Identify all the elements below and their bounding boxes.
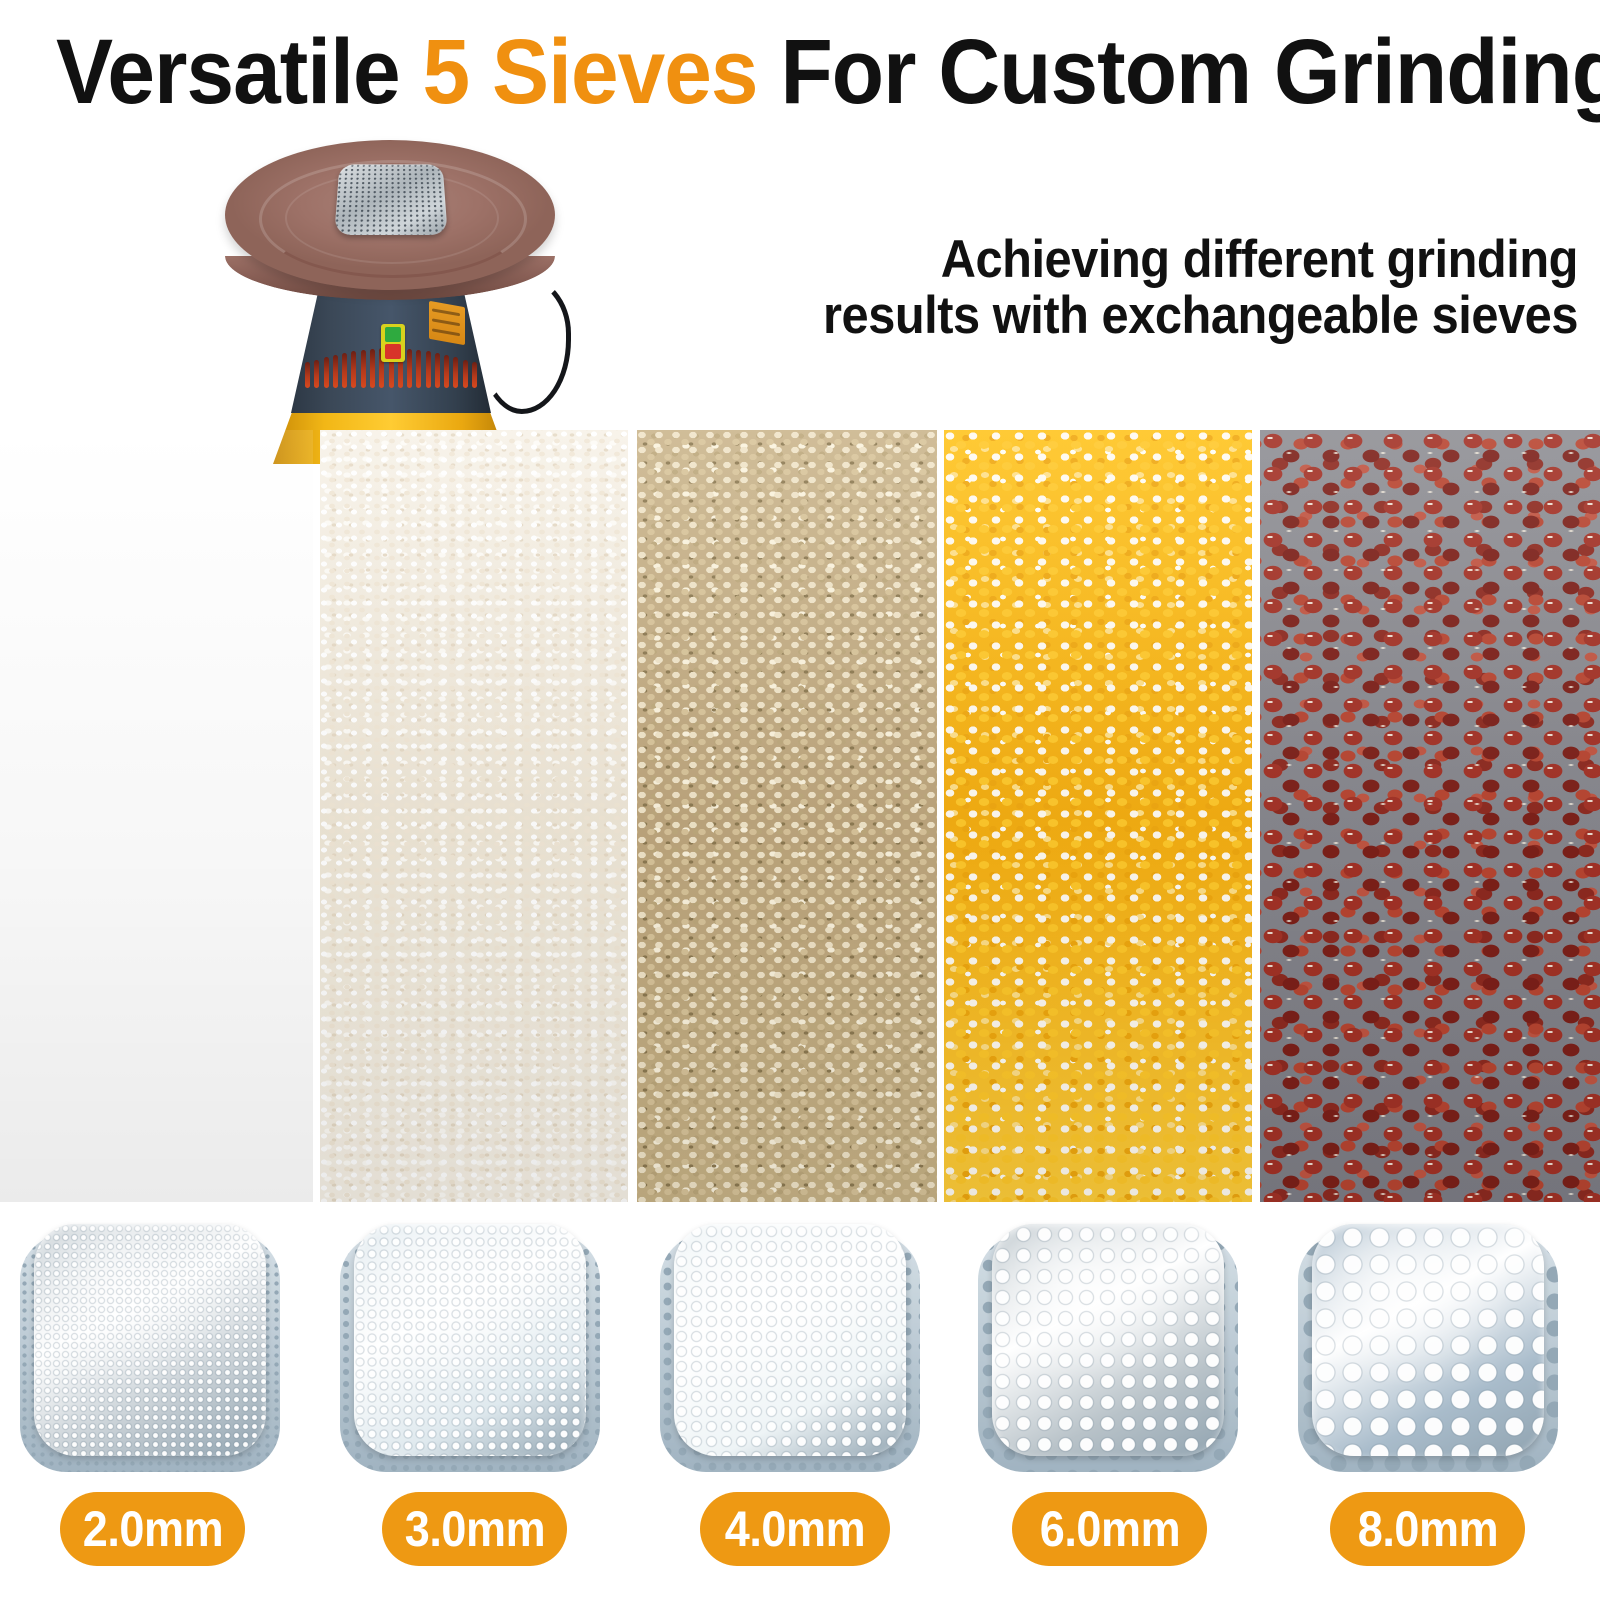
vent-slot — [370, 349, 375, 388]
sieve-plate-rim — [354, 1224, 586, 1456]
vent-slot — [407, 349, 412, 388]
power-switch[interactable] — [381, 324, 405, 362]
vent-slot — [435, 353, 440, 388]
grain-texture — [1260, 430, 1600, 1202]
sieve-size-badge-8-0mm[interactable]: 8.0mm — [1330, 1492, 1525, 1566]
sieve-plate-image — [992, 1224, 1224, 1456]
sieve-size-badge-4-0mm[interactable]: 4.0mm — [700, 1492, 890, 1566]
headline-part-2: For Custom Grinding — [758, 21, 1600, 123]
vent-slot — [351, 351, 356, 388]
sieve-8mm[interactable] — [1288, 1218, 1568, 1483]
sieve-plate-image — [34, 1224, 266, 1456]
grain-panel-buckwheat — [637, 430, 937, 1202]
sieve-size-badge-6-0mm[interactable]: 6.0mm — [1012, 1492, 1207, 1566]
sieve-3mm[interactable] — [330, 1218, 610, 1483]
grain-texture — [944, 430, 1252, 1202]
subtitle-line-2: results with exchangeable sieves — [750, 288, 1578, 344]
vent-slot — [472, 362, 477, 388]
sieve-6mm[interactable] — [968, 1218, 1248, 1483]
grain-texture — [0, 430, 313, 1202]
vent-slot — [444, 355, 449, 388]
headline-accent: 5 Sieves — [422, 21, 757, 123]
grain-mill-machine-image — [213, 128, 573, 433]
vent-slot — [333, 355, 338, 388]
grain-panel-corn-grits — [944, 430, 1252, 1202]
grain-panel-rice-grits — [320, 430, 628, 1202]
mounted-sieve-screen — [334, 164, 447, 235]
grain-panel-millet — [0, 430, 313, 1202]
grain-panel-red-beans — [1260, 430, 1600, 1202]
sieve-plate-rim — [34, 1224, 266, 1456]
page-title: Versatile 5 Sieves For Custom Grinding — [56, 22, 1544, 122]
badge-label: 4.0mm — [725, 1504, 865, 1554]
vent-slot — [305, 362, 310, 388]
badge-label: 3.0mm — [404, 1504, 544, 1554]
sieve-plate-image — [354, 1224, 586, 1456]
sieve-plate-rim — [674, 1224, 906, 1456]
vent-slot — [416, 350, 421, 388]
grain-texture — [320, 430, 628, 1202]
vent-slot — [463, 360, 468, 388]
sieve-size-badge-row: 2.0mm3.0mm4.0mm6.0mm8.0mm — [0, 1492, 1600, 1570]
sieve-plate-rim — [992, 1224, 1224, 1456]
vent-slot — [324, 357, 329, 388]
sieve-size-badge-2-0mm[interactable]: 2.0mm — [60, 1492, 245, 1566]
vent-slot — [453, 357, 458, 388]
subtitle: Achieving different grinding results wit… — [750, 232, 1578, 344]
vent-slot — [361, 350, 366, 388]
grain-result-strip — [0, 430, 1600, 1202]
sieve-plate-image — [1312, 1224, 1544, 1456]
power-off-button[interactable] — [385, 344, 401, 359]
sieve-size-badge-3-0mm[interactable]: 3.0mm — [382, 1492, 567, 1566]
sieve-2mm[interactable] — [10, 1218, 290, 1483]
badge-label: 8.0mm — [1357, 1504, 1497, 1554]
sieve-plate-rim — [1312, 1224, 1544, 1456]
grain-texture — [637, 430, 937, 1202]
subtitle-line-1: Achieving different grinding — [750, 232, 1578, 288]
sieve-plate-image — [674, 1224, 906, 1456]
headline-part-1: Versatile — [56, 21, 422, 123]
sieve-thumbnail-row — [0, 1218, 1600, 1483]
vent-slot — [342, 353, 347, 388]
sieve-4mm[interactable] — [650, 1218, 930, 1483]
power-cord — [475, 274, 571, 414]
vent-slot — [426, 351, 431, 388]
badge-label: 2.0mm — [82, 1504, 222, 1554]
vent-slot — [314, 360, 319, 388]
badge-label: 6.0mm — [1039, 1504, 1179, 1554]
warning-label — [429, 301, 465, 345]
power-on-button[interactable] — [385, 327, 401, 342]
